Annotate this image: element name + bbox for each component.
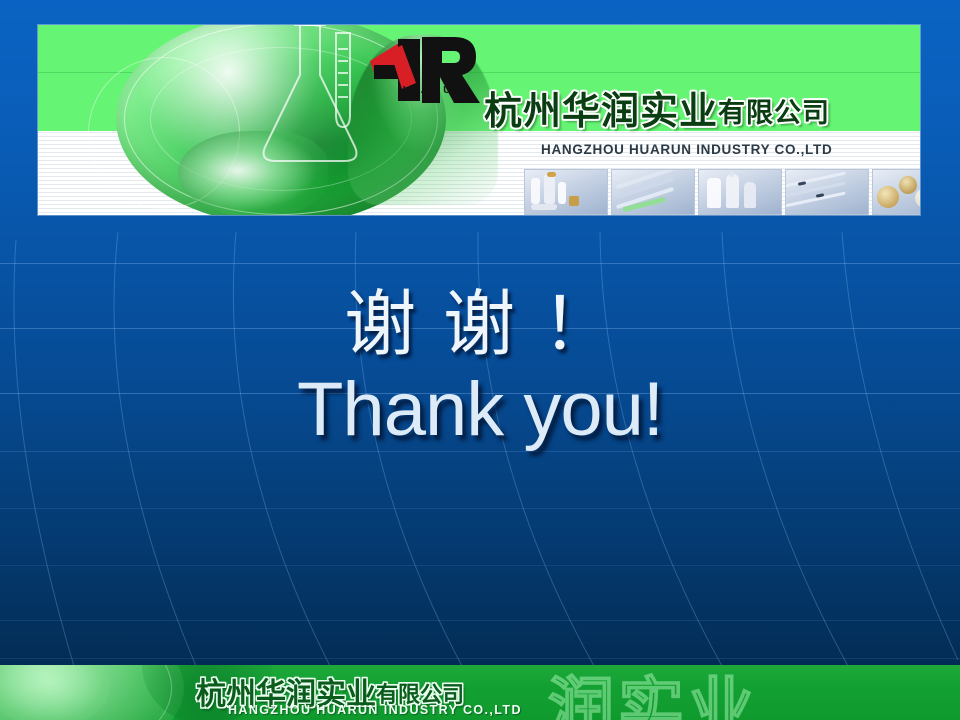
banner-company-name-en: HANGZHOU HUARUN INDUSTRY CO.,LTD [541,142,832,157]
footer-sphere-ring [0,665,172,720]
huarun-hr-logo-icon [368,31,484,109]
product-photo [785,169,869,215]
product-photo [524,169,608,215]
closing-message: 谢 谢 ！ Thank you! [0,288,960,448]
footer-watermark: 润实业 [548,665,758,720]
banner-company-name-suffix: 有限公司 [718,98,830,129]
banner-company-name-cn: 杭州华润实业有限公司 [484,80,830,135]
huarun-wordmark: HUARUN [380,85,484,96]
product-photo [698,169,782,215]
slide-canvas: HUARUN 杭州华润实业有限公司 HANGZHOU HUARUN INDUST… [0,0,960,720]
thanks-text-chinese: 谢 谢 ！ [0,288,960,360]
banner-company-name-main: 杭州华润实业 [484,89,718,133]
product-photo [611,169,695,215]
footer-bar: 润实业 杭州华润实业有限公司 HANGZHOU HUARUN INDUSTRY … [0,665,960,720]
product-photo-strip [524,169,920,215]
footer-company-name-en: HANGZHOU HUARUN INDUSTRY CO.,LTD [228,703,522,717]
thanks-text-english: Thank you! [0,372,960,448]
company-banner: HUARUN 杭州华润实业有限公司 HANGZHOU HUARUN INDUST… [38,25,920,215]
product-photo [872,169,920,215]
